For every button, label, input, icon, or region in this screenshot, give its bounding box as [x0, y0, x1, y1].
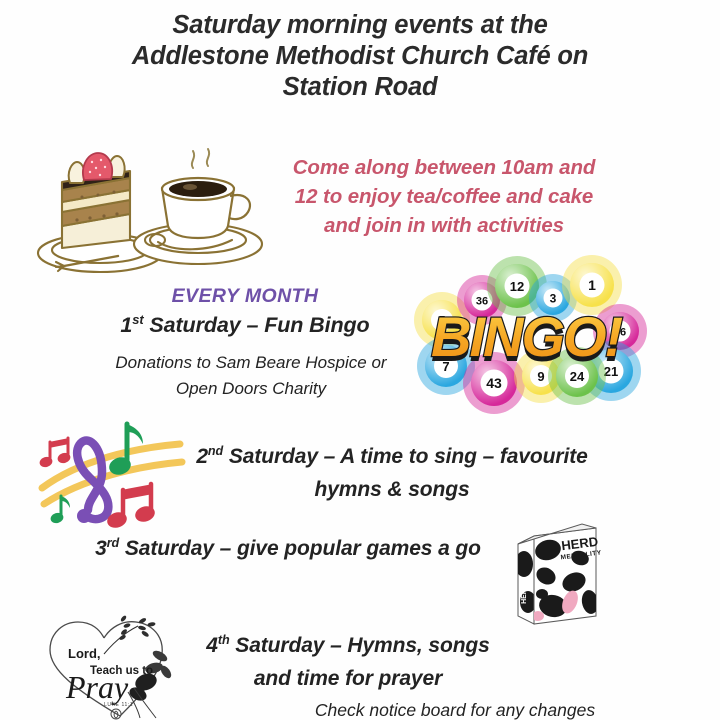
- herd-mentality-game-box: HERD HERD MENTALITY: [508, 524, 608, 628]
- event-1-heading: 1st Saturday – Fun Bingo: [90, 312, 400, 339]
- teach-us-to-pray-illustration: Lord, Teach us to Pray LUKE 11:1: [42, 616, 198, 720]
- invite-line-1: Come along between 10am and: [258, 153, 630, 182]
- svg-text:BINGO!: BINGO!: [431, 305, 623, 368]
- event-1-ordinal-suffix: st: [132, 312, 143, 327]
- prayer-line-1: Lord,: [68, 646, 101, 661]
- every-month-label: EVERY MONTH: [100, 285, 390, 308]
- bingo-wordmark: BINGO! BINGO!: [431, 305, 623, 373]
- event-4-heading-line-2: and time for prayer: [178, 662, 518, 695]
- event-1-ordinal: 1: [120, 313, 132, 337]
- svg-text:1: 1: [588, 277, 596, 293]
- invite-line-2: 12 to enjoy tea/coffee and cake: [258, 182, 630, 211]
- invite-text: Come along between 10am and 12 to enjoy …: [258, 153, 630, 240]
- svg-text:43: 43: [486, 375, 502, 391]
- game-box-spine-text: HERD: [521, 584, 528, 604]
- music-notes-illustration: [28, 402, 190, 530]
- title-line-3: Station Road: [0, 72, 720, 103]
- event-1-subtext-line-1: Donations to Sam Beare Hospice or: [86, 350, 416, 376]
- event-3-heading: 3rd Saturday – give popular games a go: [78, 535, 498, 563]
- notice-board-text: Check notice board for any changes: [300, 699, 610, 720]
- event-1-heading-rest: Saturday – Fun Bingo: [144, 313, 370, 337]
- event-1-subtext: Donations to Sam Beare Hospice or Open D…: [86, 350, 416, 402]
- prayer-reference: LUKE 11:1: [104, 702, 133, 708]
- bingo-logo-illustration: 5 36 12: [414, 258, 646, 410]
- poster-canvas: Saturday morning events at the Addleston…: [0, 0, 720, 720]
- event-3-heading-rest: Saturday – give popular games a go: [119, 537, 481, 560]
- invite-line-3: and join in with activities: [258, 211, 630, 240]
- title-line-1: Saturday morning events at the: [0, 10, 720, 41]
- event-4-ordinal-suffix: th: [218, 633, 230, 647]
- event-3-ordinal: 3: [95, 537, 107, 560]
- svg-text:3: 3: [550, 292, 557, 306]
- event-2-ordinal: 2: [196, 445, 208, 468]
- cake-and-coffee-illustration: [22, 140, 272, 282]
- event-4-ordinal: 4: [206, 634, 218, 657]
- page-title: Saturday morning events at the Addleston…: [0, 10, 720, 103]
- event-4-heading-rest: Saturday – Hymns, songs: [230, 634, 490, 657]
- event-2-heading: 2nd Saturday – A time to sing – favourit…: [168, 440, 616, 506]
- music-note-red-lower: [105, 484, 157, 530]
- event-4-heading: 4th Saturday – Hymns, songs and time for…: [178, 629, 518, 695]
- event-2-heading-line-2: hymns & songs: [168, 473, 616, 506]
- music-note-red-small: [38, 438, 71, 469]
- title-line-2: Addlestone Methodist Church Café on: [0, 41, 720, 72]
- event-3-ordinal-suffix: rd: [107, 536, 119, 550]
- svg-text:12: 12: [510, 279, 524, 294]
- event-2-heading-rest: Saturday – A time to sing – favourite: [223, 445, 588, 468]
- prayer-line-3: Pray: [65, 669, 129, 705]
- event-4-heading-line-1: 4th Saturday – Hymns, songs: [178, 629, 518, 662]
- event-2-ordinal-suffix: nd: [208, 444, 223, 458]
- event-2-heading-line-1: 2nd Saturday – A time to sing – favourit…: [168, 440, 616, 473]
- event-1-subtext-line-2: Open Doors Charity: [86, 376, 416, 402]
